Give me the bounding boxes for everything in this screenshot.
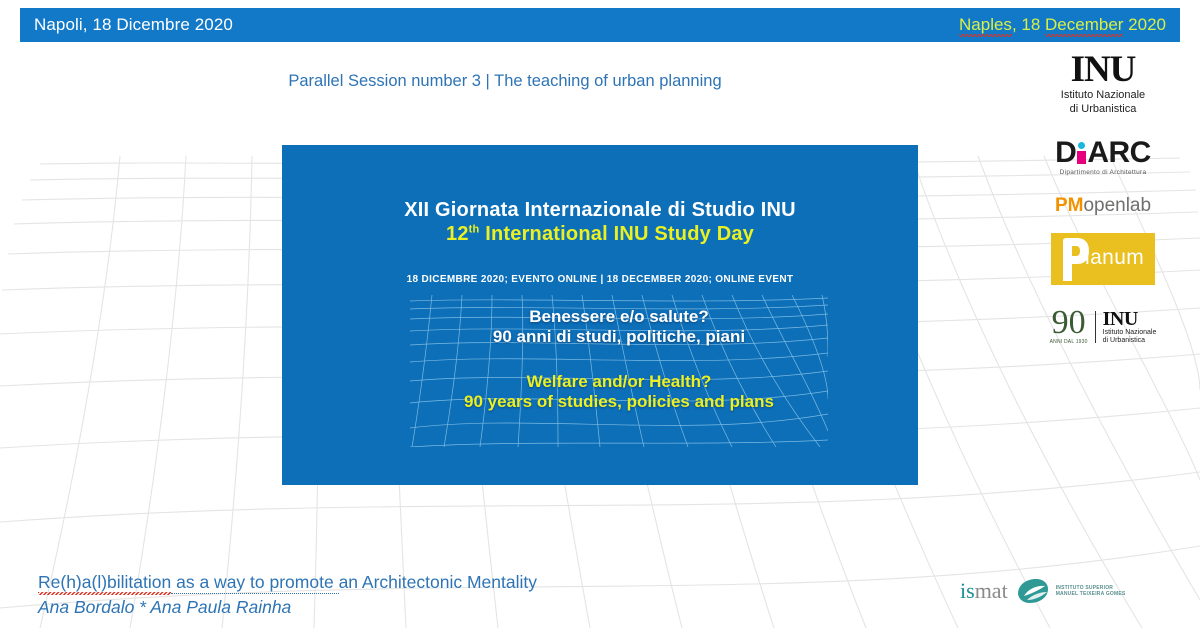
event-poster-panel: XII Giornata Internazionale di Studio IN… [282,145,918,485]
top-header-bar: Napoli, 18 Dicembre 2020 Naples, 18 Dece… [20,8,1180,42]
diarc-subtitle: Dipartimento di Architettura [1055,169,1151,176]
ismat-wordmark: ismat [960,580,1008,602]
inu-logo: INU Istituto Nazionale di Urbanistica [1061,52,1145,116]
theme-italian-line2: 90 anni di studi, politiche, piani [493,327,745,347]
poster-date-line: 18 DICEMBRE 2020; EVENTO ONLINE | 18 DEC… [282,274,918,285]
ismat-swoosh-icon [1015,578,1049,604]
presentation-title-part3: an Architectonic Mentality [339,572,537,592]
inu90-subtitle-line2: di Urbanistica [1103,337,1157,345]
presentation-title: Re(h)a(l)bilitation as a way to promote … [38,572,658,594]
inu-90-anniversary-logo: 90 ANNI DAL 1930 INU Istituto Nazionale … [1050,309,1157,345]
planum-wordmark: lanum [1085,246,1144,270]
diarc-magenta-square-icon [1077,151,1086,164]
diarc-wordmark: D ARC [1055,138,1151,168]
anniversary-subtitle: ANNI DAL 1930 [1050,339,1088,345]
anniversary-number: 90 [1050,309,1088,338]
theme-english-line1: Welfare and/or Health? [464,372,774,392]
diarc-logo: D ARC Dipartimento di Architettura [1055,138,1151,176]
ismat-mat: mat [975,578,1008,603]
poster-heading-block: XII Giornata Internazionale di Studio IN… [282,199,918,246]
sponsor-logo-column: INU Istituto Nazionale di Urbanistica D … [1018,52,1188,345]
inu90-wordmark-icon: INU [1103,310,1157,329]
header-word-naples: Naples [959,15,1012,37]
poster-title-english-rest: International INU Study Day [479,223,754,245]
poster-theme-text: Benessere e/o salute? 90 anni di studi, … [410,295,828,447]
header-word-december: December [1045,15,1123,37]
theme-english: Welfare and/or Health? 90 years of studi… [464,372,774,413]
poster-title-italian: XII Giornata Internazionale di Studio IN… [282,199,918,222]
inu-subtitle-line2: di Urbanistica [1061,103,1145,115]
presentation-authors: Ana Bordalo * Ana Paula Rainha [38,596,658,619]
pmopenlab-openlab: openlab [1083,195,1151,216]
diarc-dot-square-icon [1077,139,1086,167]
presentation-title-part2: as a way to promote [171,572,338,594]
presentation-title-block: Re(h)a(l)bilitation as a way to promote … [38,572,658,619]
theme-italian-line1: Benessere e/o salute? [493,307,745,327]
header-date-italian: Napoli, 18 Dicembre 2020 [34,15,233,35]
inu-wordmark-icon: INU [1061,52,1145,87]
diarc-cyan-dot-icon [1078,142,1085,149]
poster-title-english: 12th International INU Study Day [282,222,918,246]
ismat-logo: ismat INSTITUTO SUPERIOR MANUEL TEIXEIRA… [960,578,1125,604]
logo-divider [1095,311,1096,343]
poster-theme-mesh-panel: Benessere e/o salute? 90 anni di studi, … [410,295,828,447]
ismat-institute-name: INSTITUTO SUPERIOR MANUEL TEIXEIRA GOMES [1056,585,1126,598]
parallel-session-line: Parallel Session number 3 | The teaching… [0,72,1010,91]
theme-english-line2: 90 years of studies, policies and plans [464,392,774,412]
ismat-sub-line2: MANUEL TEIXEIRA GOMES [1056,591,1126,597]
diarc-letters-arc: ARC [1087,138,1151,168]
inu90-subtitle-line1: Istituto Nazionale [1103,329,1157,337]
poster-title-english-number: 12 [446,223,469,245]
presentation-title-part1: Re(h)a(l)bilitation [38,572,171,595]
planum-logo: lanum [1051,233,1155,285]
slide-canvas: Napoli, 18 Dicembre 2020 Naples, 18 Dece… [0,0,1200,628]
inu-subtitle-line1: Istituto Nazionale [1061,89,1145,101]
ismat-is: is [960,578,975,603]
poster-title-english-ordinal: th [469,224,480,236]
pmopenlab-logo: PMopenlab [1055,196,1151,215]
header-year: 2020 [1123,15,1166,34]
diarc-letter-d: D [1055,138,1076,168]
header-comma-18: , 18 [1012,15,1045,34]
pmopenlab-pm: PM [1055,195,1084,216]
theme-italian: Benessere e/o salute? 90 anni di studi, … [493,307,745,348]
header-date-english: Naples, 18 December 2020 [959,15,1166,35]
